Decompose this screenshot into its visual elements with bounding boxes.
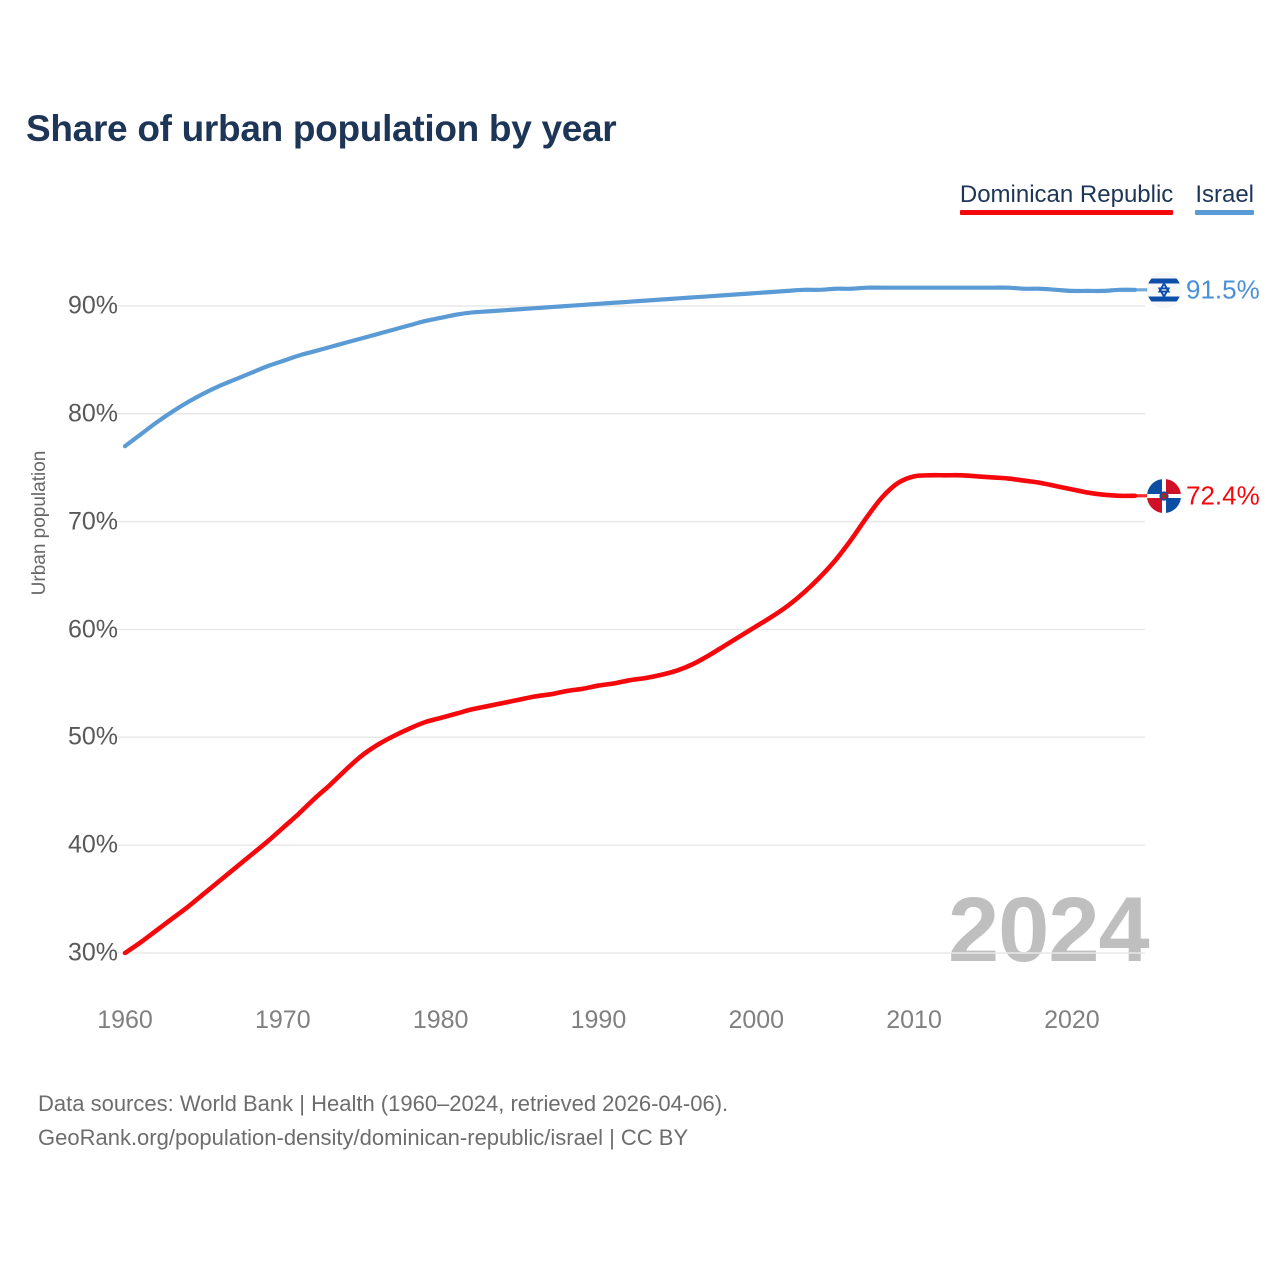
dominican-republic-flag-icon xyxy=(1147,479,1181,513)
x-axis-tick-label: 1980 xyxy=(413,1006,469,1035)
x-axis-tick-label: 1970 xyxy=(255,1006,311,1035)
y-axis-tick-label: 40% xyxy=(32,831,118,860)
x-axis-tick-label: 2010 xyxy=(886,1006,942,1035)
series-lines xyxy=(125,288,1150,953)
y-axis-tick-label: 30% xyxy=(32,939,118,968)
israel-flag-icon xyxy=(1147,273,1181,307)
x-axis-tick-label: 2020 xyxy=(1044,1006,1100,1035)
y-axis-label: Urban population xyxy=(29,423,51,623)
series-line-israel xyxy=(125,288,1135,447)
footer: Data sources: World Bank | Health (1960–… xyxy=(38,1087,728,1155)
series-line-dominican-republic xyxy=(125,475,1135,953)
footer-data-sources: Data sources: World Bank | Health (1960–… xyxy=(38,1087,728,1121)
y-axis-tick-label: 90% xyxy=(32,292,118,321)
dominican-republic-end-value: 72.4% xyxy=(1186,480,1260,511)
israel-end-value: 91.5% xyxy=(1186,274,1260,305)
y-axis-tick-label: 50% xyxy=(32,723,118,752)
x-axis-tick-label: 2000 xyxy=(728,1006,784,1035)
footer-attribution: GeoRank.org/population-density/dominican… xyxy=(38,1121,728,1155)
x-axis-tick-label: 1990 xyxy=(571,1006,627,1035)
x-axis-tick-label: 1960 xyxy=(97,1006,153,1035)
gridlines xyxy=(117,306,1145,953)
